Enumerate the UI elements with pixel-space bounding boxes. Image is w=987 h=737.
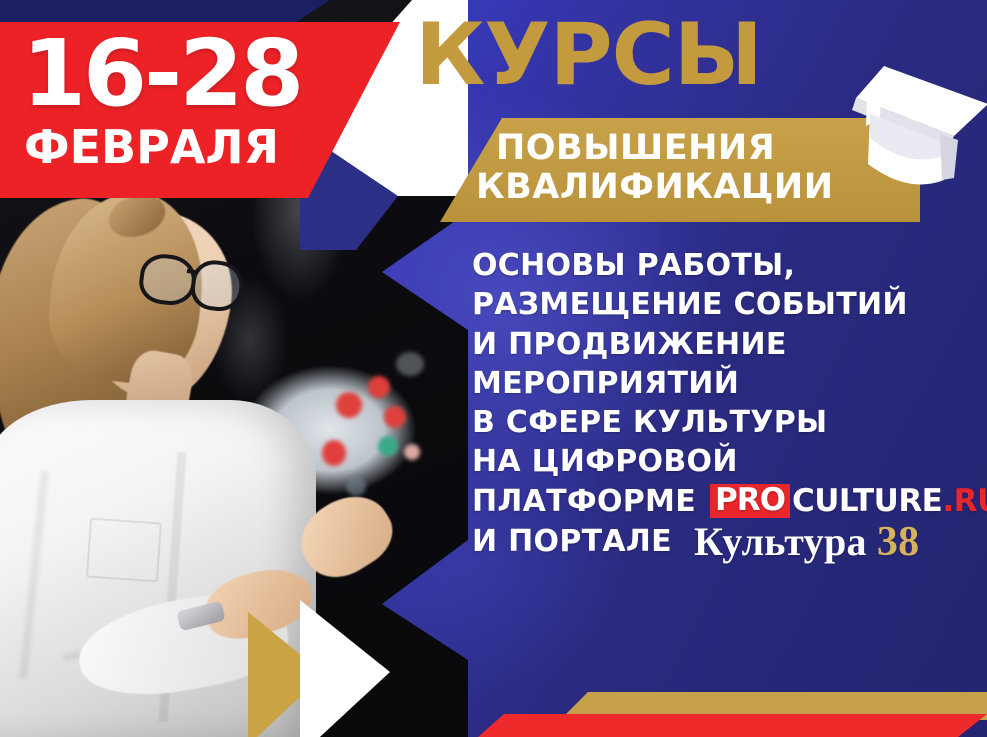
- whiteboard-magnet: [404, 444, 420, 460]
- whiteboard-magnet: [336, 392, 362, 418]
- description-line: МЕРОПРИЯТИЙ: [472, 364, 987, 403]
- description-line: В СФЕРЕ КУЛЬТУРЫ: [472, 403, 987, 442]
- proculture-ru: .RU: [942, 486, 987, 517]
- kultura38-word: Культура: [694, 522, 867, 562]
- proculture-logo: PROCULTURE.RU: [710, 484, 987, 518]
- page-title: КУРСЫ: [415, 12, 762, 98]
- description-line: РАЗМЕЩЕНИЕ СОБЫТИЙ: [472, 285, 987, 324]
- bottom-red-band: [478, 714, 987, 737]
- whiteboard-magnet: [384, 406, 406, 428]
- description-line: И ПРОДВИЖЕНИЕ: [472, 325, 987, 364]
- whiteboard-magnet: [378, 436, 398, 456]
- whiteboard-magnet: [346, 476, 366, 496]
- proculture-pro: PRO: [710, 484, 790, 518]
- description-line: И ПОРТАЛЕ: [472, 522, 672, 561]
- description-line: НА ЦИФРОВОЙ: [472, 442, 987, 481]
- description-line: ПЛАТФОРМЕ: [472, 482, 696, 521]
- shirt-pocket: [86, 518, 162, 583]
- description-block: ОСНОВЫ РАБОТЫ, РАЗМЕЩЕНИЕ СОБЫТИЙ И ПРОД…: [472, 246, 987, 563]
- subtitle-line-1: ПОВЫШЕНИЯ: [496, 131, 775, 166]
- kultura38-number: 38: [877, 521, 920, 563]
- whiteboard-magnet: [368, 376, 390, 398]
- whiteboard-magnet: [322, 440, 346, 466]
- graduation-cap-icon: [836, 52, 987, 202]
- description-line-with-kultura38: И ПОРТАЛЕ Культура38: [472, 521, 987, 563]
- kultura38-logo: Культура38: [694, 521, 919, 563]
- date-range: 16-28: [22, 28, 301, 120]
- date-month: ФЕВРАЛЯ: [24, 124, 279, 170]
- subtitle-line-2: КВАЛИФИКАЦИИ: [476, 170, 834, 205]
- description-line: ОСНОВЫ РАБОТЫ,: [472, 246, 987, 285]
- proculture-culture: CULTURE: [792, 486, 942, 517]
- description-line-with-proculture: ПЛАТФОРМЕ PROCULTURE.RU: [472, 482, 987, 521]
- promo-banner: 16-28 ФЕВРАЛЯ КУРСЫ ПОВЫШЕНИЯ КВАЛИФИКАЦ…: [0, 0, 987, 737]
- whiteboard-magnet: [396, 352, 424, 376]
